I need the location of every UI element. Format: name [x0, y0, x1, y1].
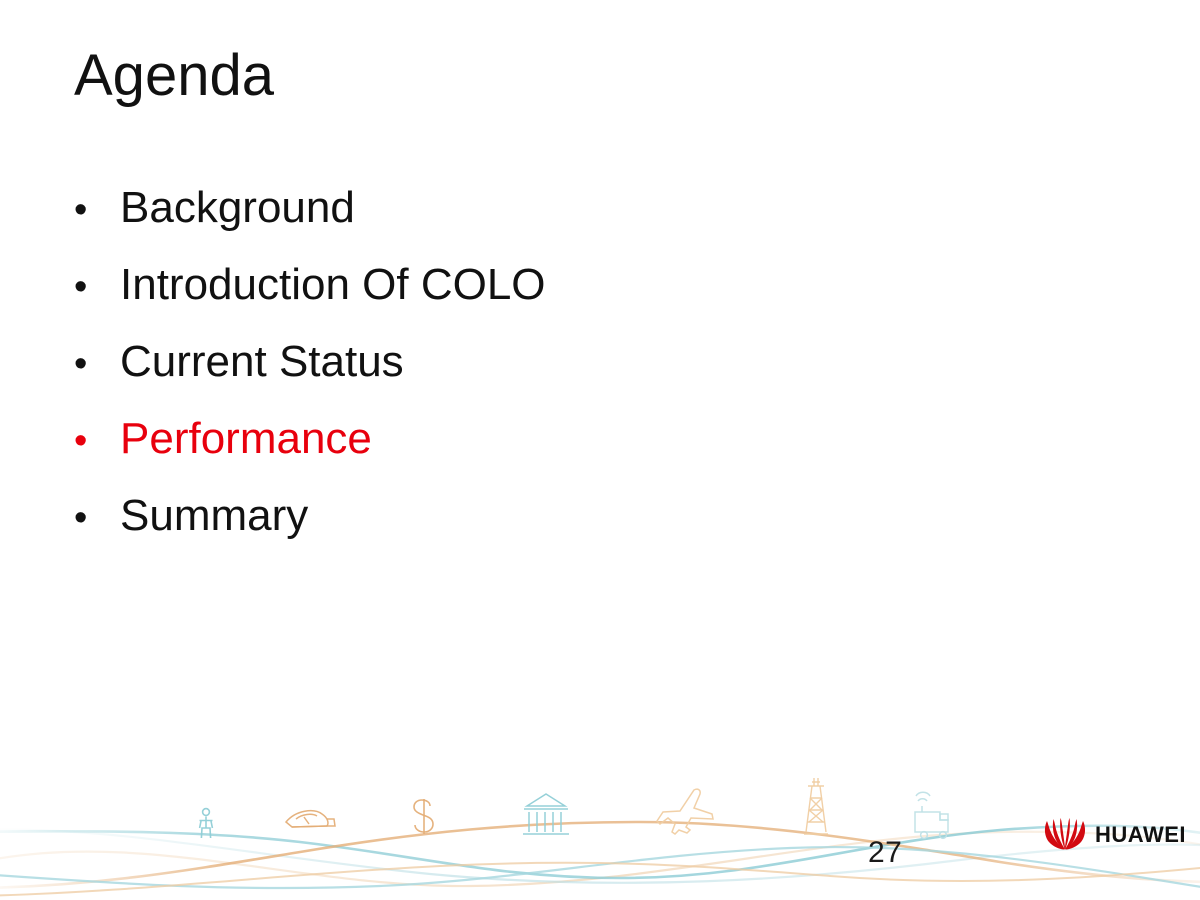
agenda-item-label: Summary: [120, 494, 308, 538]
train-icon: [286, 811, 335, 827]
bullet-point-icon: •: [68, 422, 120, 460]
bullet-point-icon: •: [68, 499, 120, 537]
agenda-item-introduction-of-colo[interactable]: • Introduction Of COLO: [68, 263, 968, 340]
agenda-item-performance[interactable]: • Performance: [68, 417, 968, 494]
delivery-truck-icon: [915, 792, 948, 838]
page-number: 27: [868, 838, 902, 868]
agenda-item-summary[interactable]: • Summary: [68, 494, 968, 571]
huawei-wordmark: HUAWEI: [1095, 824, 1186, 846]
agenda-item-label: Background: [120, 186, 355, 230]
wave-pale-orange: [0, 832, 1200, 886]
agenda-item-background[interactable]: • Background: [68, 186, 968, 263]
bullet-point-icon: •: [68, 268, 120, 306]
bullet-point-icon: •: [68, 345, 120, 383]
bank-building-icon: [523, 794, 569, 834]
page-title: Agenda: [74, 40, 274, 112]
wave-orange-secondary: [0, 863, 1200, 896]
huawei-flower-icon: [1043, 818, 1087, 852]
wave-teal-primary: [0, 826, 1200, 878]
pedestrian-icon: [200, 809, 213, 838]
wave-teal-secondary: [0, 847, 1200, 890]
agenda-item-label: Introduction Of COLO: [120, 263, 546, 307]
footer-decoration-graphic: [0, 770, 1200, 900]
agenda-item-label: Performance: [120, 417, 372, 461]
bullet-point-icon: •: [68, 191, 120, 229]
slide-canvas: Agenda • Background • Introduction Of CO…: [0, 0, 1200, 900]
wave-pale-teal: [0, 830, 1200, 883]
transmission-tower-icon: [804, 778, 828, 834]
agenda-list: • Background • Introduction Of COLO • Cu…: [68, 186, 968, 571]
airplane-icon: [657, 789, 713, 834]
agenda-item-label: Current Status: [120, 340, 404, 384]
wave-orange-primary: [0, 822, 1200, 888]
dollar-sign-icon: [414, 799, 433, 834]
agenda-item-current-status[interactable]: • Current Status: [68, 340, 968, 417]
huawei-logo: HUAWEI: [1043, 818, 1186, 852]
